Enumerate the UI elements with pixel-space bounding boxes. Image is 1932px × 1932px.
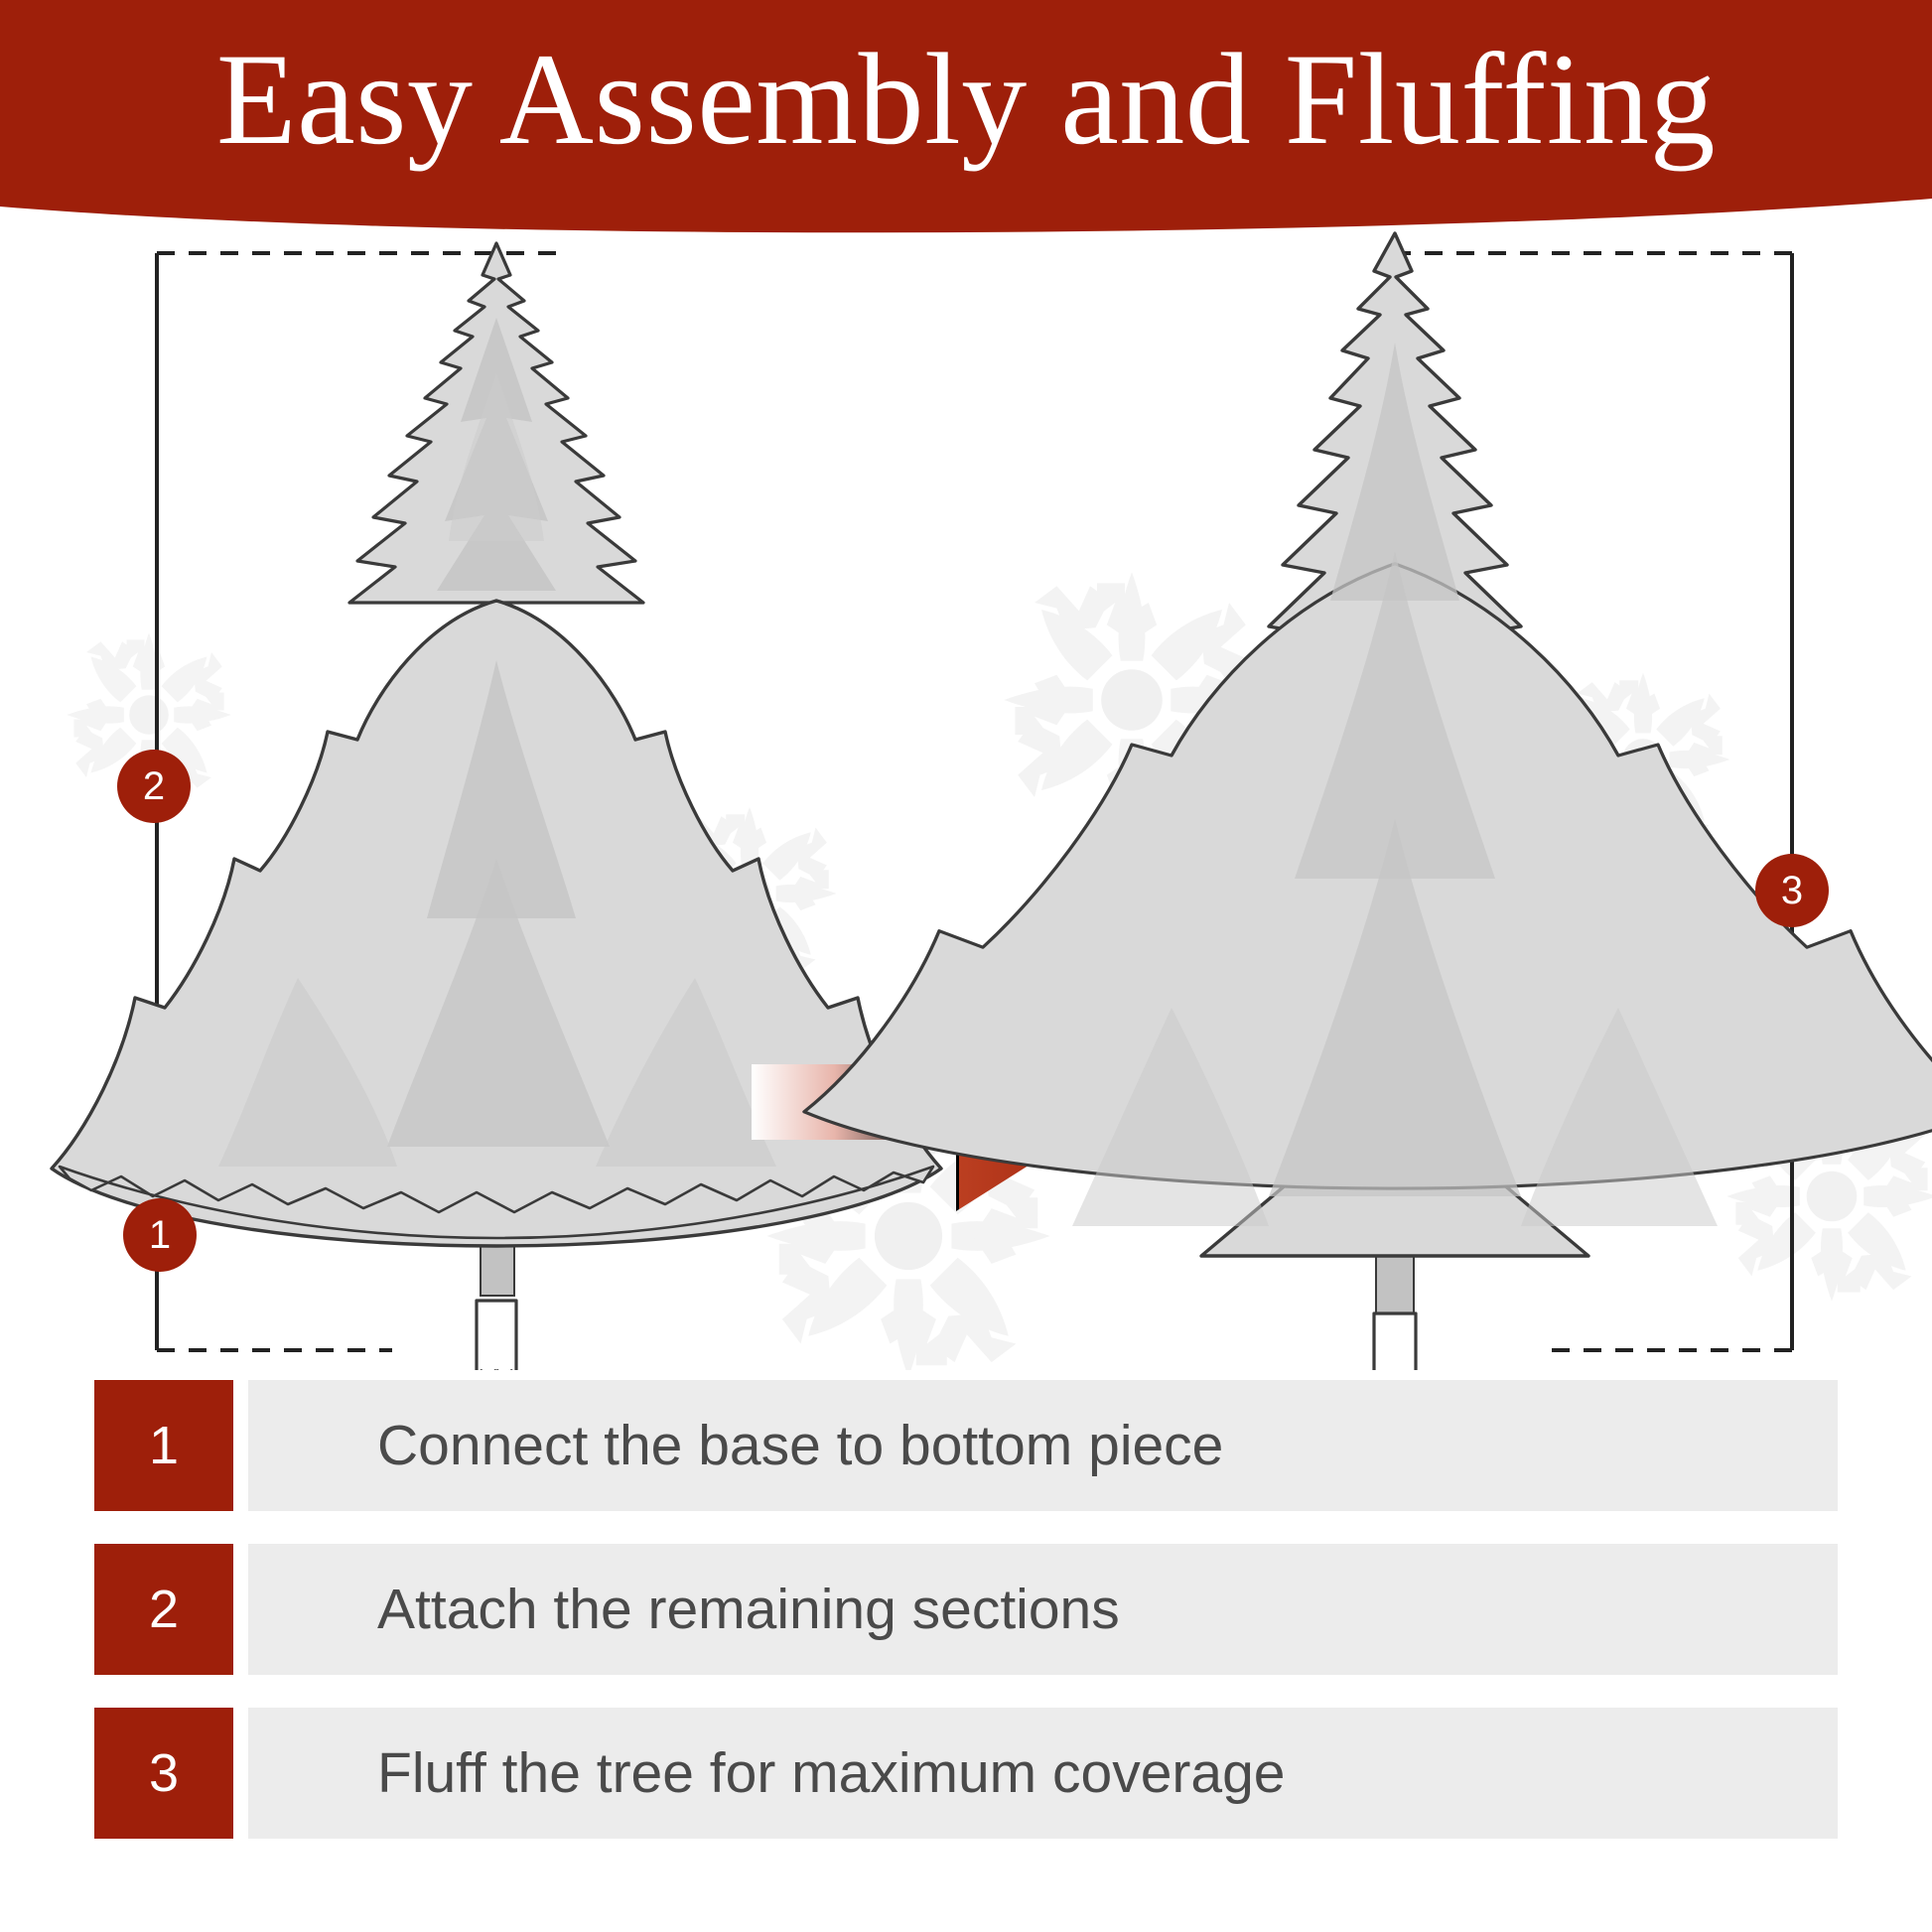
step-row: 1 Connect the base to bottom piece	[0, 1380, 1932, 1511]
diagram-marker-3: 3	[1755, 854, 1829, 927]
step-number-badge: 2	[94, 1544, 233, 1675]
tree-stand-left	[298, 1301, 695, 1370]
header-banner: Easy Assembly and Fluffing	[0, 0, 1932, 238]
diagram-marker-1: 1	[123, 1198, 197, 1272]
infographic-page: Easy Assembly and Fluffing	[0, 0, 1932, 1932]
step-number-badge: 1	[94, 1380, 233, 1511]
step-number-badge: 3	[94, 1708, 233, 1839]
steps-list: 1 Connect the base to bottom piece 2 Att…	[0, 1380, 1932, 1871]
tree-stand-right	[1207, 1313, 1583, 1370]
step-description: Attach the remaining sections	[248, 1544, 1838, 1675]
page-title: Easy Assembly and Fluffing	[0, 34, 1932, 165]
assembly-diagram: 2 1 3	[0, 223, 1932, 1370]
diagram-canvas	[0, 223, 1932, 1370]
assembled-fluffed-tree	[804, 233, 1932, 1315]
step-description: Fluff the tree for maximum coverage	[248, 1708, 1838, 1839]
diagram-marker-2: 2	[117, 750, 191, 823]
step-row: 2 Attach the remaining sections	[0, 1544, 1932, 1675]
step-row: 3 Fluff the tree for maximum coverage	[0, 1708, 1932, 1839]
step-description: Connect the base to bottom piece	[248, 1380, 1838, 1511]
